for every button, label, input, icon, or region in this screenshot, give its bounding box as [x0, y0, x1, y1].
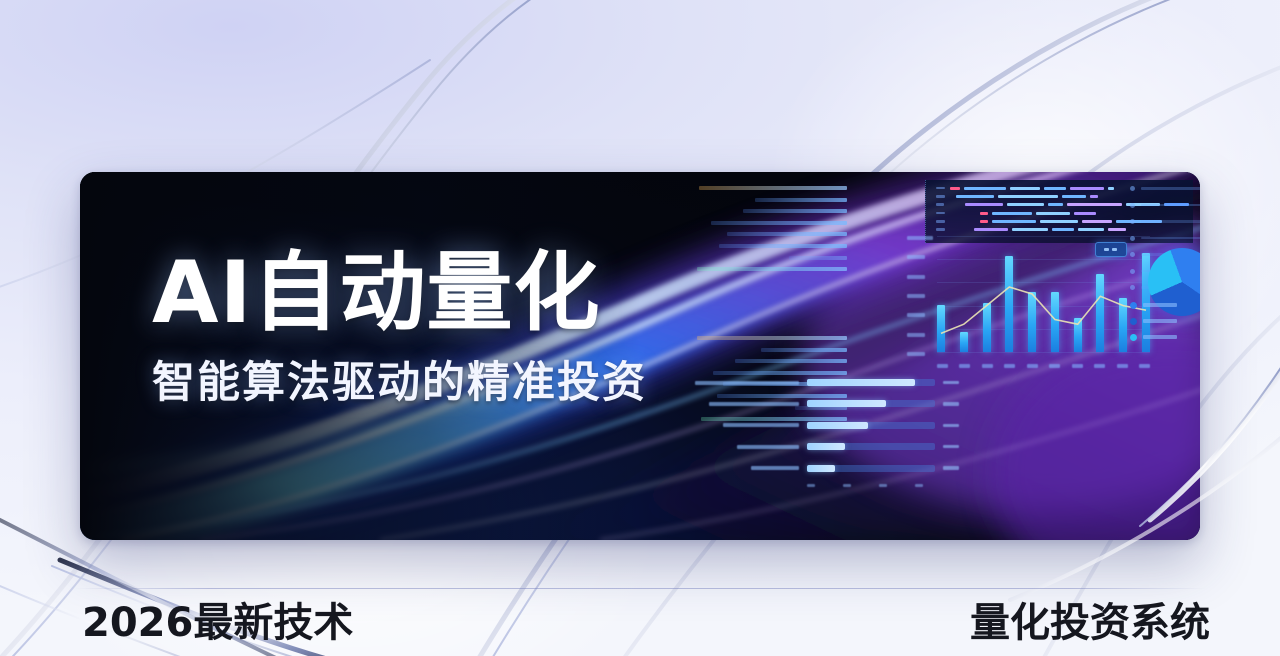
banner-stage: AI自动量化 智能算法驱动的精准投资 2026最新技术 量化投资系统: [0, 0, 1280, 656]
page-subtitle: 智能算法驱动的精准投资: [152, 362, 712, 405]
footer-right-label: 量化投资系统: [970, 600, 1210, 646]
footer-left-label: 2026最新技术: [82, 600, 353, 646]
page-title: AI自动量化: [152, 250, 712, 336]
hero-text-block: AI自动量化 智能算法驱动的精准投资: [152, 250, 712, 405]
footer-divider: [74, 588, 1206, 589]
